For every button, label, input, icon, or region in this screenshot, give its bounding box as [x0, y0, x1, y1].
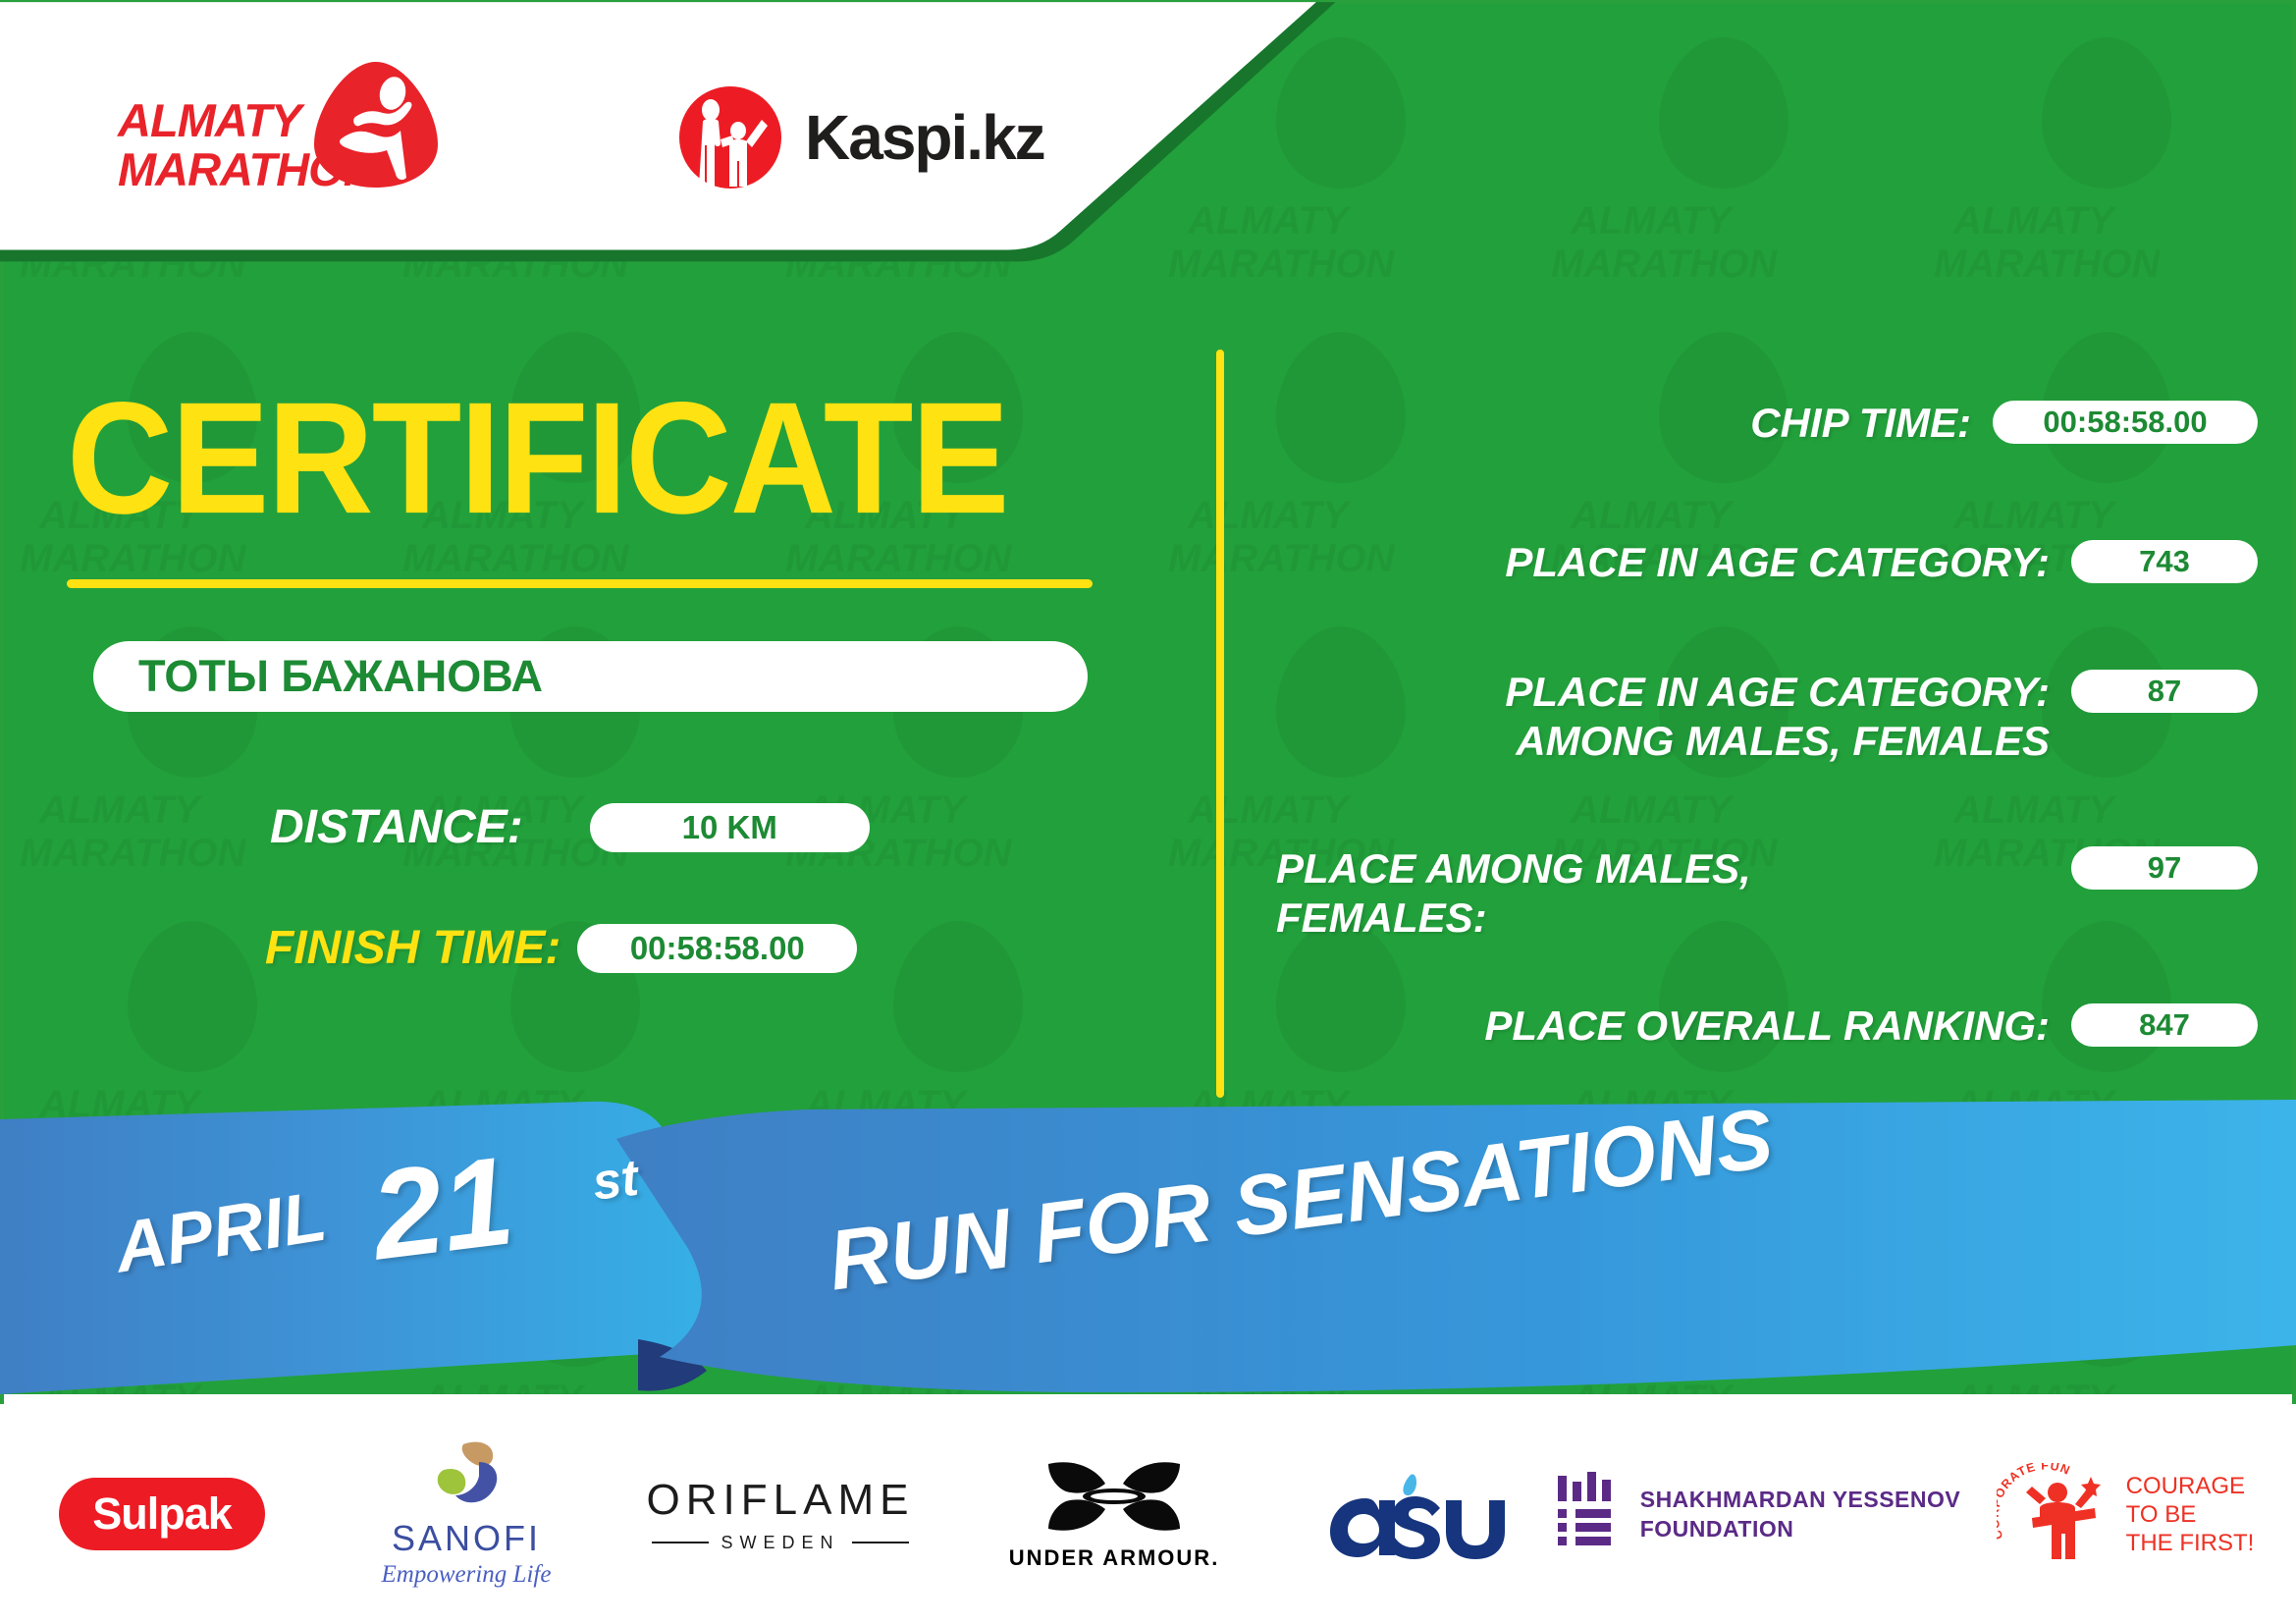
kaspi-logo: Kaspi.kz — [677, 84, 1044, 190]
distance-value-pill: 10 KM — [590, 803, 870, 852]
vertical-divider — [1216, 350, 1224, 1098]
sponsor-yessenov-foundation: SHAKHMARDAN YESSENOV FOUNDATION — [1551, 1440, 1963, 1588]
distance-label: DISTANCE: — [270, 800, 523, 854]
place-age-category-gender-label-line1: PLACE IN AGE CATEGORY: — [1276, 668, 2050, 717]
chip-time-label: CHIP TIME: — [1276, 399, 1993, 448]
title-underline — [67, 579, 1093, 588]
kaspi-wordmark: Kaspi.kz — [805, 101, 1044, 174]
almaty-marathon-logo: ALMATY MARATHON — [118, 57, 442, 204]
ribbon-day: 21 — [364, 1128, 520, 1288]
sponsor-under-armour: UNDER ARMOUR. — [952, 1440, 1276, 1588]
place-overall-label: PLACE OVERALL RANKING: — [1276, 1001, 2071, 1051]
participant-name-field: ТОТЫ БАЖАНОВА — [93, 641, 1088, 712]
result-row-place-age-category-gender: PLACE IN AGE CATEGORY: AMONG MALES, FEMA… — [1276, 668, 2258, 766]
place-among-gender-label-line2: FEMALES: — [1276, 893, 2050, 943]
yessenov-bars-icon — [1554, 1472, 1621, 1556]
sponsor-asu — [1276, 1440, 1551, 1588]
place-age-category-gender-value: 87 — [2148, 674, 2181, 709]
kaspi-people-circle-icon — [677, 84, 783, 190]
place-age-category-gender-label: PLACE IN AGE CATEGORY: AMONG MALES, FEMA… — [1276, 668, 2071, 766]
place-overall-value: 847 — [2139, 1007, 2190, 1043]
place-among-gender-label-line1: PLACE AMONG MALES, — [1276, 844, 2050, 893]
place-age-category-gender-label-line2: AMONG MALES, FEMALES — [1276, 717, 2050, 766]
finish-time-value-pill: 00:58:58.00 — [577, 924, 857, 973]
result-row-place-among-gender: PLACE AMONG MALES, FEMALES: 97 — [1276, 844, 2258, 943]
page-title: CERTIFICATE — [67, 378, 1008, 537]
place-age-category-value: 743 — [2139, 544, 2190, 579]
under-armour-wordmark: UNDER ARMOUR. — [1009, 1545, 1220, 1571]
participant-name-value: ТОТЫ БАЖАНОВА — [138, 651, 543, 702]
result-row-chip-time: CHIP TIME: 00:58:58.00 — [1276, 399, 2258, 448]
place-age-category-gender-value-pill: 87 — [2071, 670, 2258, 713]
chip-time-value-pill: 00:58:58.00 — [1993, 401, 2258, 444]
sponsor-sanofi: SANOFI Empowering Life — [324, 1440, 609, 1588]
sulpak-wordmark: Sulpak — [92, 1489, 232, 1540]
distance-value: 10 KM — [682, 809, 777, 846]
sponsor-sulpak: Sulpak — [0, 1440, 324, 1588]
place-among-gender-label: PLACE AMONG MALES, FEMALES: — [1276, 844, 2071, 943]
oriflame-wordmark: ORIFLAME — [647, 1476, 915, 1525]
sanofi-wordmark: SANOFI — [382, 1518, 552, 1559]
place-among-gender-value: 97 — [2148, 850, 2181, 886]
stat-row-finish-time: FINISH TIME: 00:58:58.00 — [265, 921, 857, 975]
finish-time-label: FINISH TIME: — [265, 921, 561, 975]
sanofi-tagline: Empowering Life — [382, 1561, 552, 1589]
oriflame-rule-right — [852, 1542, 909, 1543]
courage-line2: TO BE — [2126, 1500, 2255, 1529]
asu-logo — [1320, 1467, 1507, 1561]
certificate-page: ALMATY MARATHON ALMATY MARATHON — [0, 0, 2296, 1624]
sanofi-bird-icon — [424, 1440, 508, 1509]
result-row-place-overall: PLACE OVERALL RANKING: 847 — [1276, 1001, 2258, 1051]
place-among-gender-value-pill: 97 — [2071, 846, 2258, 890]
yessenov-name-line1: SHAKHMARDAN YESSENOV — [1640, 1485, 1961, 1514]
sponsor-courage-fund: CORPORATE FUND COURAGE TO BE THE FIRST! — [1963, 1440, 2287, 1588]
place-age-category-label: PLACE IN AGE CATEGORY: — [1276, 538, 2071, 587]
oriflame-rule-left — [652, 1542, 709, 1543]
sponsor-strip: Sulpak SANOFI Empowering Life ORIFLAME S… — [0, 1404, 2296, 1624]
sulpak-logo: Sulpak — [59, 1478, 265, 1550]
runner-teardrop-icon — [312, 60, 440, 189]
result-row-place-age-category: PLACE IN AGE CATEGORY: 743 — [1276, 538, 2258, 587]
chip-time-value: 00:58:58.00 — [2043, 405, 2207, 440]
under-armour-icon — [1041, 1458, 1188, 1535]
courage-runner-icon: CORPORATE FUND — [1997, 1463, 2112, 1565]
place-overall-value-pill: 847 — [2071, 1003, 2258, 1047]
ribbon-day-suffix: st — [589, 1149, 641, 1213]
stat-row-distance: DISTANCE: 10 KM — [270, 800, 870, 854]
header-logo-row: ALMATY MARATHON — [0, 0, 1266, 275]
finish-time-value: 00:58:58.00 — [630, 930, 805, 967]
courage-line1: COURAGE — [2126, 1472, 2255, 1500]
sponsor-oriflame: ORIFLAME SWEDEN — [609, 1440, 952, 1588]
courage-line3: THE FIRST! — [2126, 1529, 2255, 1557]
yessenov-name-line2: FOUNDATION — [1640, 1514, 1961, 1543]
place-age-category-value-pill: 743 — [2071, 540, 2258, 583]
oriflame-subtitle: SWEDEN — [721, 1533, 839, 1553]
